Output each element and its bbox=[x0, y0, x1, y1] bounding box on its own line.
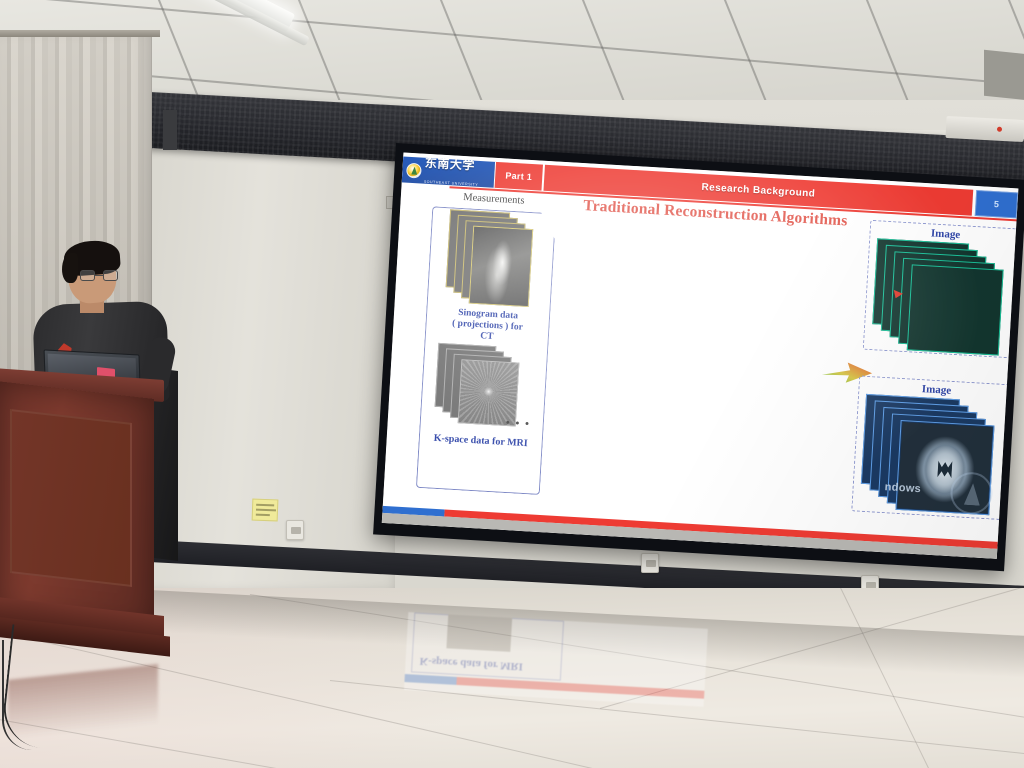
ct-chest-image bbox=[909, 266, 1002, 353]
logo-chinese-name: 东南大学 bbox=[424, 156, 475, 173]
university-logo: 东南大学 SOUTHEAST UNIVERSITY bbox=[402, 156, 495, 187]
power-cable-secondary bbox=[2, 640, 32, 750]
podium-inset-panel bbox=[10, 409, 132, 587]
presenter-hair-side bbox=[62, 253, 78, 283]
presentation-slide: 东南大学 SOUTHEAST UNIVERSITY Part 1 Researc… bbox=[382, 152, 1019, 558]
mri-ventricle-shape bbox=[937, 460, 952, 478]
ceiling-mounted-device bbox=[945, 116, 1024, 142]
stack-ellipsis: • • • bbox=[505, 417, 530, 430]
wall-conduit-box bbox=[163, 110, 177, 150]
sinogram-image bbox=[470, 227, 532, 306]
lecture-hall-scene: 东南大学 SOUTHEAST UNIVERSITY Part 1 Researc… bbox=[0, 0, 1024, 768]
screen-floor-reflection: K-space data for MRI bbox=[404, 612, 708, 707]
sinogram-stack bbox=[445, 209, 542, 306]
ct-slice-stack bbox=[871, 238, 1019, 358]
mri-slice-stack bbox=[859, 394, 1016, 521]
ceiling-vent bbox=[984, 50, 1024, 101]
slide-page-number: 5 bbox=[975, 190, 1018, 218]
sinogram-caption: Sinogram data ( projections ) for CT bbox=[429, 306, 547, 346]
curtain-rod bbox=[0, 30, 160, 37]
windows-watermark: ndows bbox=[884, 481, 921, 495]
wall-outlet bbox=[286, 520, 304, 540]
projection-screen: 东南大学 SOUTHEAST UNIVERSITY Part 1 Researc… bbox=[373, 143, 1024, 571]
status-led-icon bbox=[997, 127, 1002, 132]
sinogram-caption-line3: CT bbox=[480, 332, 494, 343]
kspace-image bbox=[459, 360, 519, 425]
wall-notice-sign bbox=[252, 499, 279, 522]
eyeglasses-icon bbox=[80, 270, 118, 282]
slide-part-label: Part 1 bbox=[494, 162, 543, 191]
wall-outlet bbox=[641, 553, 659, 573]
university-seal-icon bbox=[406, 162, 422, 178]
projection-screen-surface: 东南大学 SOUTHEAST UNIVERSITY Part 1 Researc… bbox=[382, 152, 1019, 558]
